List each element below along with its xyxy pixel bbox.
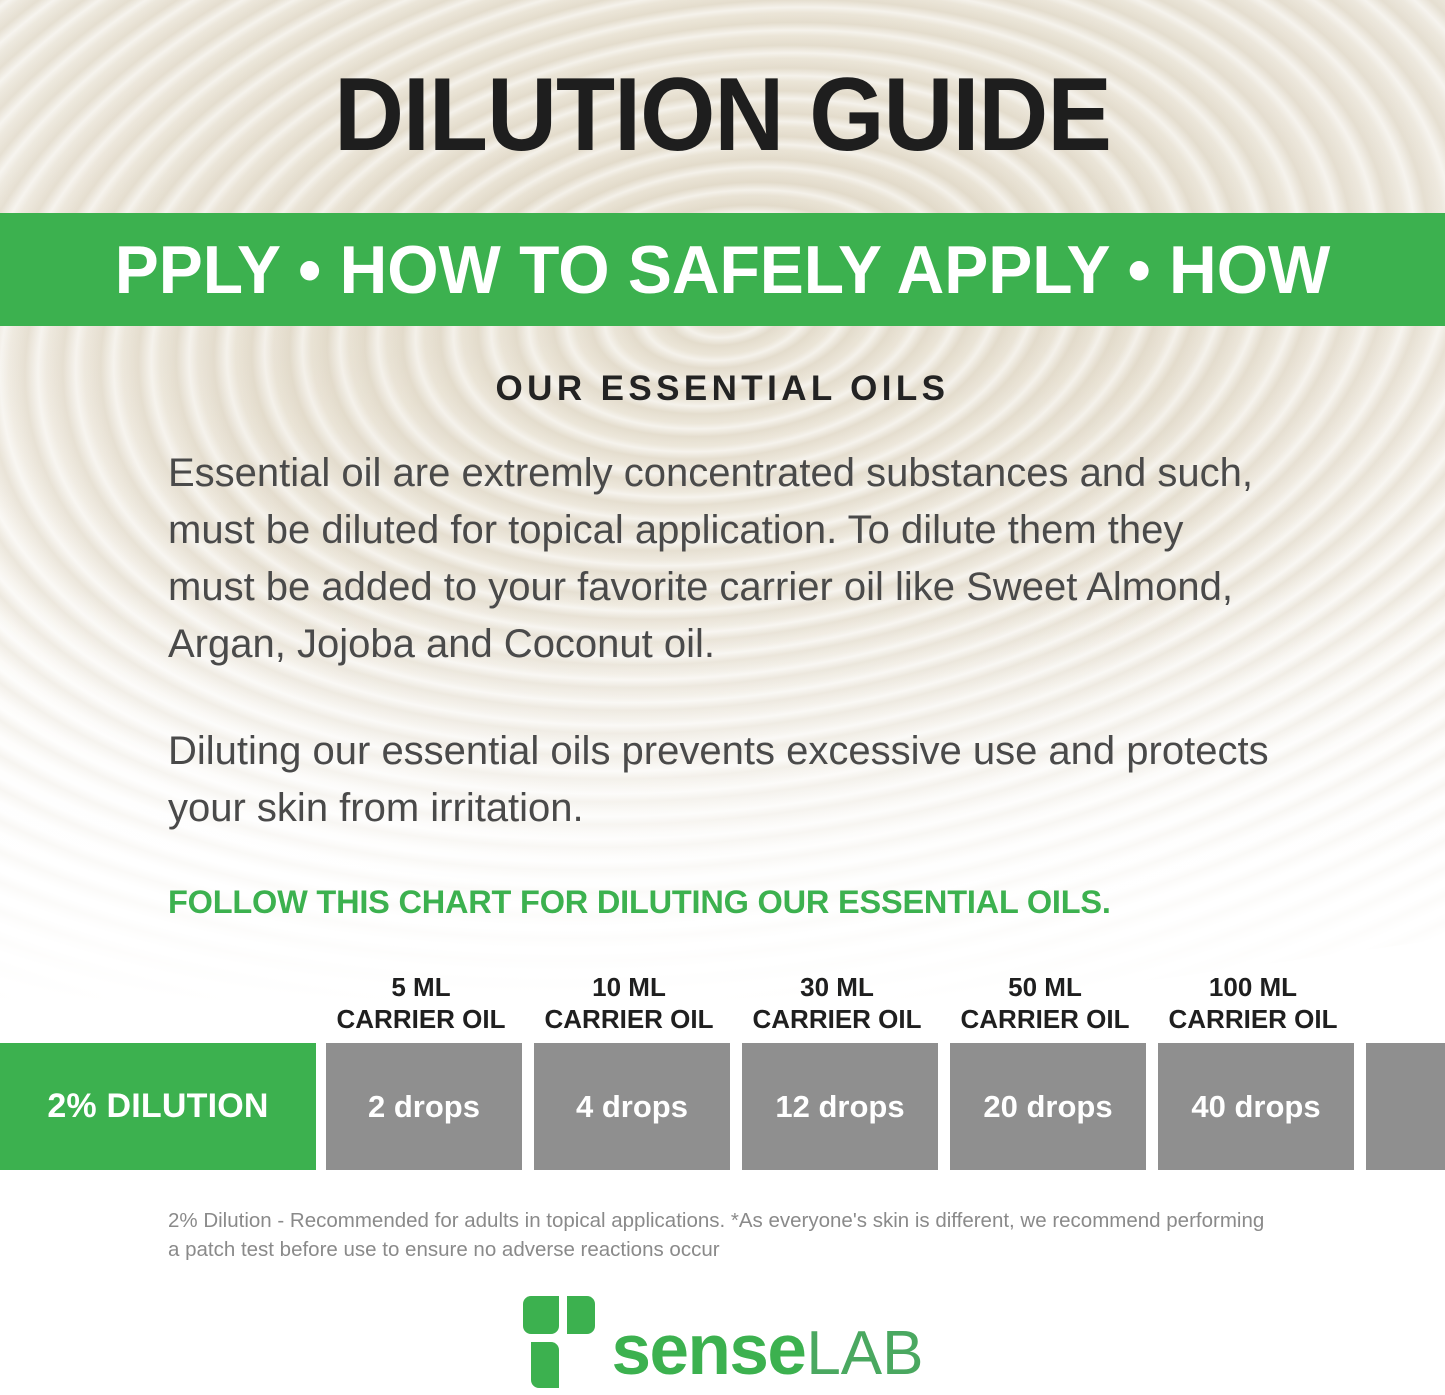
cell-drops-100ml: 40 drops	[1158, 1043, 1354, 1170]
cell-drops-10ml: 4 drops	[534, 1043, 730, 1170]
dilution-table: 5 ML CARRIER OIL 10 ML CARRIER OIL 30 ML…	[0, 955, 1445, 1170]
cell-drops-cropped	[1366, 1043, 1445, 1170]
intro-paragraph: Essential oil are extremly concentrated …	[168, 445, 1277, 673]
column-header-volume: 50 ML	[944, 971, 1146, 1003]
column-header-unit: CARRIER OIL	[528, 1003, 730, 1035]
body-copy: Essential oil are extremly concentrated …	[0, 445, 1445, 921]
cell-drops-50ml: 20 drops	[950, 1043, 1146, 1170]
row-label-2-percent-dilution: 2% DILUTION	[0, 1043, 316, 1170]
table-row: 2% DILUTION 2 drops 4 drops 12 drops 20 …	[0, 1043, 1445, 1170]
footnote-text: 2% Dilution - Recommended for adults in …	[168, 1206, 1278, 1264]
marquee-banner: PPLY • HOW TO SAFELY APPLY • HOW	[0, 213, 1445, 326]
brand-logo: sense LAB	[0, 1296, 1445, 1388]
section-heading: OUR ESSENTIAL OILS	[0, 369, 1445, 409]
column-header-unit: CARRIER OIL	[320, 1003, 522, 1035]
column-header-volume: 100 ML	[1152, 971, 1354, 1003]
column-header-unit: CARRIER OIL	[944, 1003, 1146, 1035]
page-title: DILUTION GUIDE	[51, 0, 1395, 167]
column-header-30ml: 30 ML CARRIER OIL	[736, 955, 938, 1043]
chart-callout-heading: FOLLOW THIS CHART FOR DILUTING OUR ESSEN…	[168, 884, 1277, 921]
table-header-row: 5 ML CARRIER OIL 10 ML CARRIER OIL 30 ML…	[0, 955, 1445, 1043]
benefit-paragraph: Diluting our essential oils prevents exc…	[168, 723, 1277, 837]
column-header-volume: 5 ML	[320, 971, 522, 1003]
logo-word-sense: sense	[611, 1315, 805, 1386]
column-header-10ml: 10 ML CARRIER OIL	[528, 955, 730, 1043]
column-header-100ml: 100 ML CARRIER OIL	[1152, 955, 1354, 1043]
column-header-volume: 30 ML	[736, 971, 938, 1003]
cell-drops-5ml: 2 drops	[326, 1043, 522, 1170]
table-header-spacer	[0, 955, 320, 1043]
logo-word-lab: LAB	[806, 1323, 923, 1385]
column-header-5ml: 5 ML CARRIER OIL	[320, 955, 522, 1043]
cell-drops-30ml: 12 drops	[742, 1043, 938, 1170]
senselab-leaf-icon	[521, 1296, 605, 1388]
column-header-50ml: 50 ML CARRIER OIL	[944, 955, 1146, 1043]
marquee-banner-text: PPLY • HOW TO SAFELY APPLY • HOW	[115, 231, 1330, 309]
column-header-unit: CARRIER OIL	[1152, 1003, 1354, 1035]
logo-wordmark: sense LAB	[611, 1315, 923, 1386]
column-header-unit: CARRIER OIL	[736, 1003, 938, 1035]
dilution-guide-page: DILUTION GUIDE PPLY • HOW TO SAFELY APPL…	[0, 0, 1445, 1395]
column-header-volume: 10 ML	[528, 971, 730, 1003]
